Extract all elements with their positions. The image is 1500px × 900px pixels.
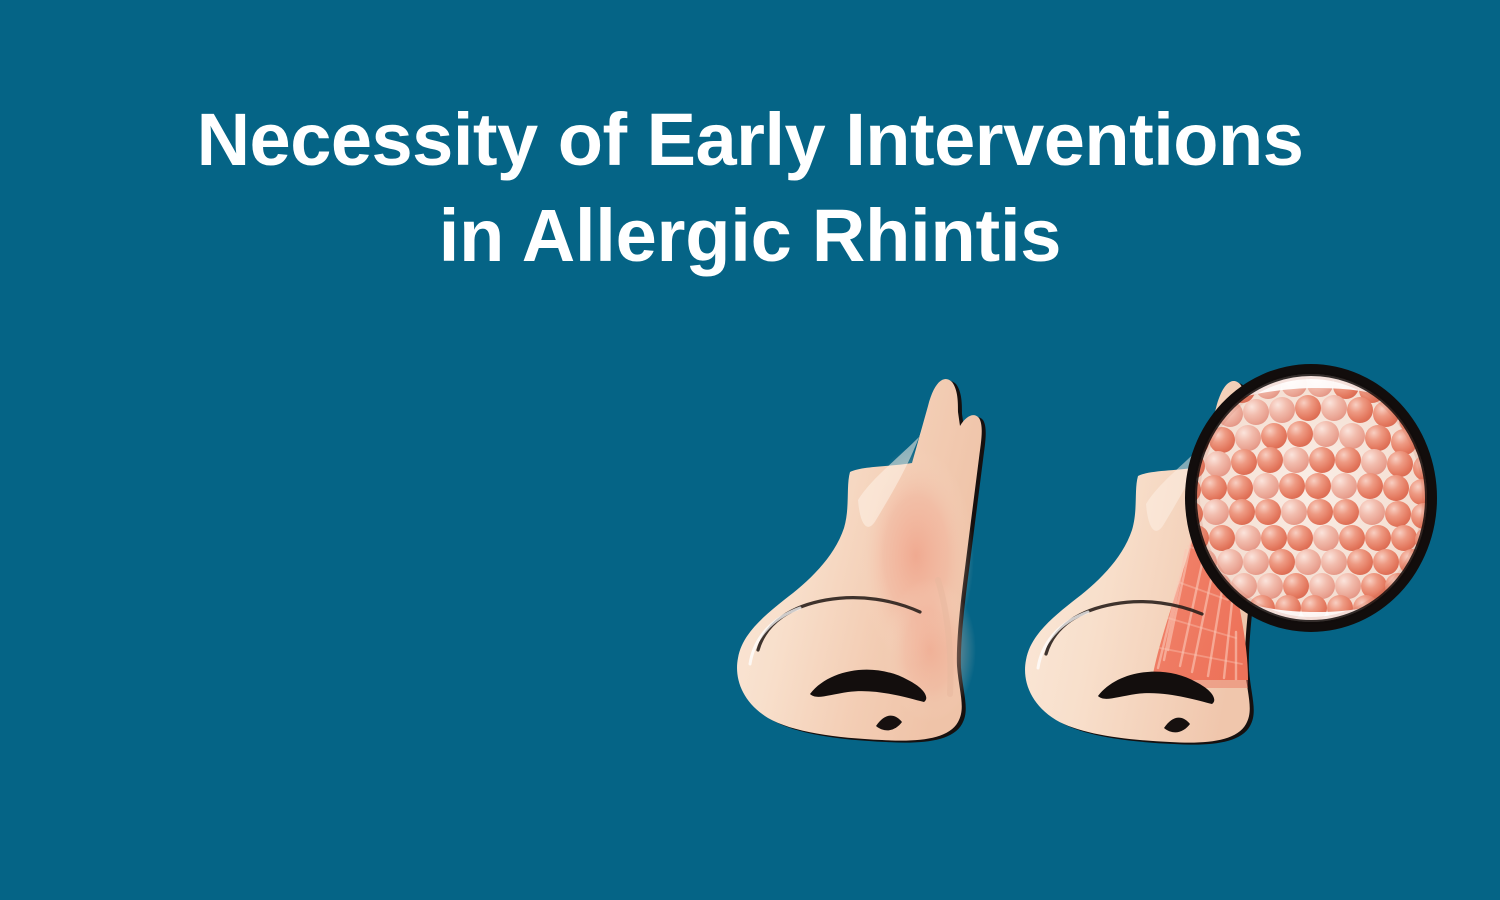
banner-root: Necessity of Early Interventions in Alle… [0,0,1500,900]
healthy-nose [737,379,986,743]
healthy-nose-blush-lower [884,578,976,722]
page-title: Necessity of Early Interventions in Alle… [55,92,1445,284]
title-line-1: Necessity of Early Interventions [55,92,1445,188]
nose-illustration [680,350,1470,790]
title-line-2: in Allergic Rhintis [55,188,1445,284]
